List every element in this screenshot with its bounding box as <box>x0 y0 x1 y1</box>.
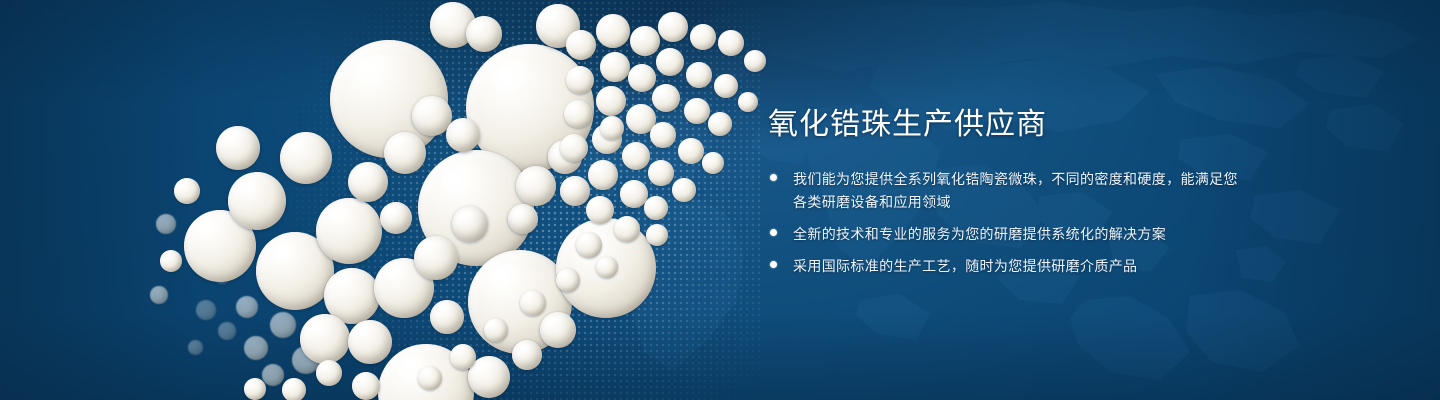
list-item-text: 我们能为您提供全系列氧化锆陶瓷微珠，不同的密度和硬度，能满足您各类研磨设备和应用… <box>793 171 1238 210</box>
list-item: 全新的技术和专业的服务为您的研磨提供系统化的解决方案 <box>768 223 1238 246</box>
list-item-text: 全新的技术和专业的服务为您的研磨提供系统化的解决方案 <box>793 226 1166 242</box>
hero-banner: 氧化锆珠生产供应商 我们能为您提供全系列氧化锆陶瓷微珠，不同的密度和硬度，能满足… <box>0 0 1440 400</box>
benefits-list: 我们能为您提供全系列氧化锆陶瓷微珠，不同的密度和硬度，能满足您各类研磨设备和应用… <box>768 168 1238 278</box>
list-item: 采用国际标准的生产工艺，随时为您提供研磨介质产品 <box>768 255 1238 278</box>
bullet-dot-icon <box>770 229 777 236</box>
zirconia-beads-image <box>0 0 780 400</box>
banner-title: 氧化锆珠生产供应商 <box>768 110 1047 140</box>
bullet-dot-icon <box>770 261 777 268</box>
list-item: 我们能为您提供全系列氧化锆陶瓷微珠，不同的密度和硬度，能满足您各类研磨设备和应用… <box>768 168 1238 214</box>
halftone-dot-pattern <box>60 0 760 400</box>
list-item-text: 采用国际标准的生产工艺，随时为您提供研磨介质产品 <box>793 258 1137 274</box>
bullet-dot-icon <box>770 174 777 181</box>
banner-copy: 氧化锆珠生产供应商 我们能为您提供全系列氧化锆陶瓷微珠，不同的密度和硬度，能满足… <box>768 0 1288 400</box>
